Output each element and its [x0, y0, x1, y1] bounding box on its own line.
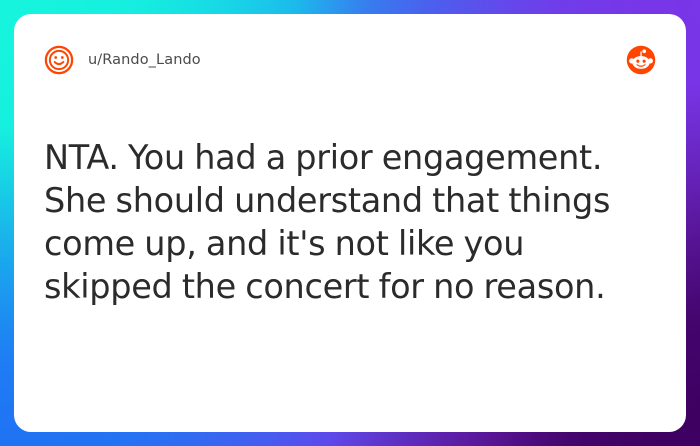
reddit-post-poster: u/Rando_Lando [0, 0, 700, 446]
post-body-text: NTA. You had a prior engagement. She sho… [44, 136, 624, 308]
reddit-post-card: u/Rando_Lando [14, 14, 686, 432]
post-author-username[interactable]: u/Rando_Lando [88, 52, 201, 68]
reddit-snoo-icon [626, 45, 656, 75]
post-header: u/Rando_Lando [44, 40, 656, 80]
smiley-face-icon [44, 45, 74, 75]
